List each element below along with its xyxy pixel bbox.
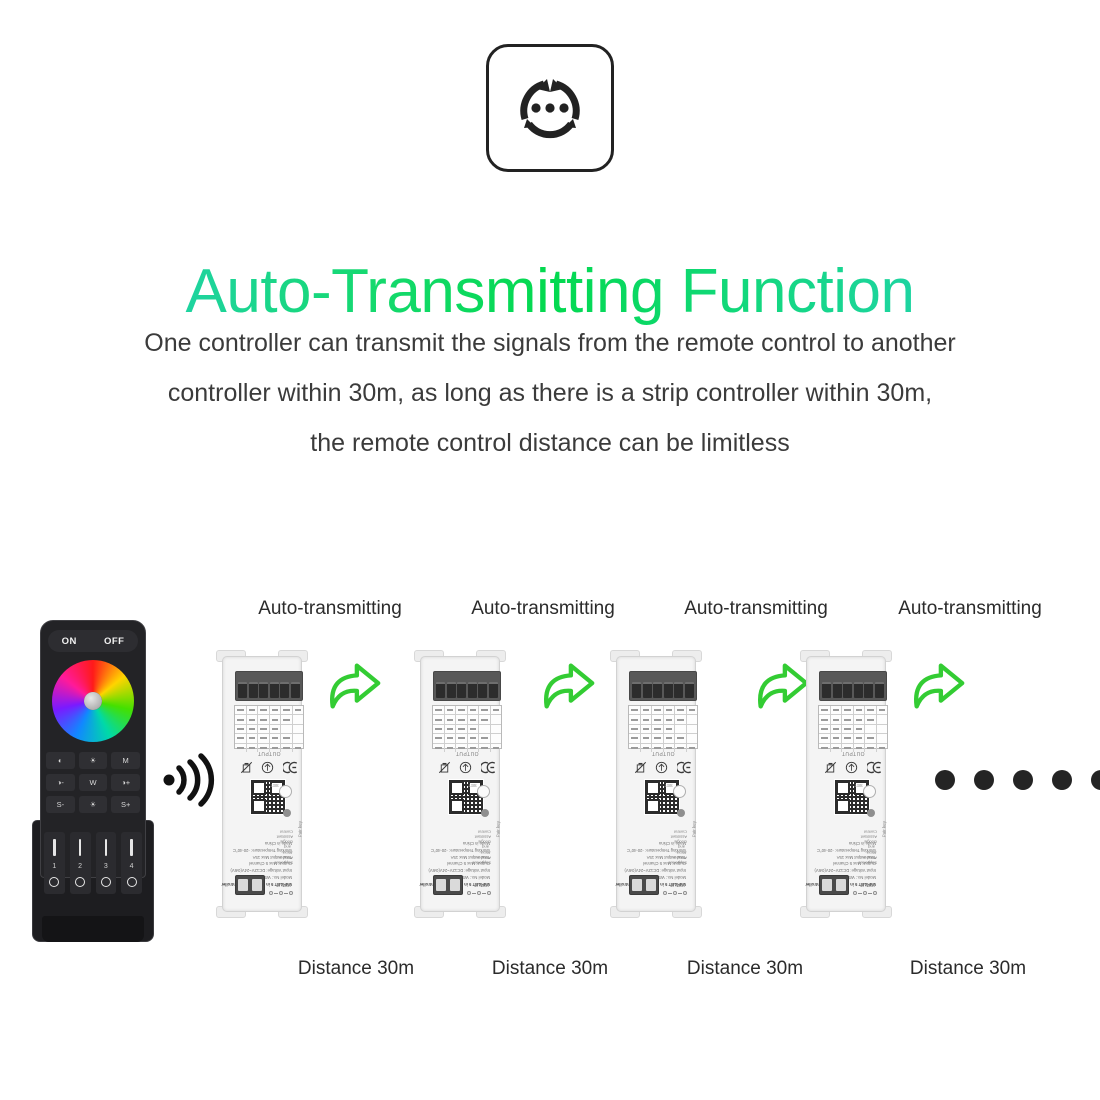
input-polarity-icon xyxy=(853,891,877,895)
controller-body: OUTPUT SET Pair key WiFi&BT 5 in xyxy=(420,656,500,912)
description-line-1: One controller can transmit the signals … xyxy=(50,318,1050,368)
input-pin-positive: + xyxy=(434,868,436,873)
weee-icon xyxy=(824,761,837,774)
output-terminal-block[interactable] xyxy=(433,671,501,701)
table-row xyxy=(629,725,697,734)
input-pin-negative: - xyxy=(657,868,658,873)
distance-label-4: Distance 30m xyxy=(900,958,1036,980)
status-led xyxy=(283,809,291,817)
description-line-2: controller within 30m, as long as there … xyxy=(50,368,1050,418)
certification-marks xyxy=(630,759,696,775)
set-button[interactable] xyxy=(673,785,686,798)
speed-up-button[interactable]: S+ xyxy=(111,796,140,813)
certification-marks xyxy=(434,759,500,775)
output-terminal-block[interactable] xyxy=(235,671,303,701)
set-button-label: SET xyxy=(270,783,279,788)
page-description: One controller can transmit the signals … xyxy=(50,318,1050,468)
table-row xyxy=(235,715,303,724)
mode-button[interactable]: M xyxy=(111,752,140,769)
output-label: OUTPUT xyxy=(818,750,888,756)
pair-key-label: Pair key xyxy=(881,821,886,837)
input-terminal-block[interactable] xyxy=(235,875,265,895)
set-button[interactable] xyxy=(477,785,490,798)
auto-transmitting-label-2: Auto-transmitting xyxy=(459,598,627,620)
status-led xyxy=(867,809,875,817)
output-label: OUTPUT xyxy=(628,750,698,756)
zone-on-icon xyxy=(53,839,56,856)
output-label: OUTPUT xyxy=(234,750,304,756)
led-strip-controller-4: OUTPUT SET Pair key WiFi&BT 5 in xyxy=(800,648,892,920)
weee-icon xyxy=(634,761,647,774)
table-row xyxy=(433,715,501,724)
zone-number: 2 xyxy=(78,863,82,870)
weee-icon xyxy=(240,761,253,774)
table-row xyxy=(433,734,501,743)
table-row xyxy=(629,715,697,724)
input-polarity-icon xyxy=(269,891,293,895)
pair-key-label: Pair key xyxy=(297,821,302,837)
controller-body: OUTPUT SET Pair key WiFi&BT 5 in xyxy=(616,656,696,912)
zone-button-1[interactable]: 1 xyxy=(44,832,65,894)
table-row xyxy=(819,715,887,724)
zone-button-4[interactable]: 4 xyxy=(121,832,142,894)
table-row xyxy=(819,734,887,743)
terminal-screw xyxy=(270,682,279,698)
distance-label-2: Distance 30m xyxy=(482,958,618,980)
led-strip-controller-2: OUTPUT SET Pair key WiFi&BT 5 in xyxy=(414,648,506,920)
zone-button-3[interactable]: 3 xyxy=(96,832,117,894)
description-line-3: the remote control distance can be limit… xyxy=(50,418,1050,468)
status-led xyxy=(481,809,489,817)
continuation-dots xyxy=(935,770,1100,790)
zone-button-2[interactable]: 2 xyxy=(70,832,91,894)
table-row xyxy=(235,725,303,734)
input-label: INPUT xyxy=(474,881,489,887)
color-wheel-center-button[interactable] xyxy=(84,692,102,710)
output-label: OUTPUT xyxy=(432,750,502,756)
table-row xyxy=(235,706,303,715)
controller-body: OUTPUT SET Pair key WiFi&BT 5 in xyxy=(806,656,886,912)
continuation-dot xyxy=(935,770,955,790)
auto-transmitting-label-1: Auto-transmitting xyxy=(246,598,414,620)
terminal-screw xyxy=(249,682,258,698)
output-terminal-block[interactable] xyxy=(629,671,697,701)
led-strip-controller-3: OUTPUT SET Pair key WiFi&BT 5 in xyxy=(610,648,702,920)
input-terminal-block[interactable] xyxy=(819,875,849,895)
zone-on-icon xyxy=(79,839,82,856)
table-row xyxy=(235,734,303,743)
remote-power-bar: ON OFF xyxy=(48,630,138,652)
zone-off-icon xyxy=(49,877,59,887)
zone-number: 1 xyxy=(52,863,56,870)
voice-assistant-note: Supported Amazon Alexa and Google Assist… xyxy=(866,829,877,865)
table-row xyxy=(819,725,887,734)
input-label: INPUT xyxy=(670,881,685,887)
recycle-icon xyxy=(261,761,274,774)
voice-assistant-note: Supported Amazon Alexa and Google Assist… xyxy=(676,829,687,865)
auto-transmitting-icon xyxy=(486,44,614,172)
certification-marks xyxy=(236,759,302,775)
terminal-screw xyxy=(291,682,300,698)
qr-code xyxy=(644,779,680,815)
brightness-down-button[interactable]: ◑- xyxy=(46,774,75,791)
auto-transmitting-label-4: Auto-transmitting xyxy=(886,598,1054,620)
continuation-dot xyxy=(1013,770,1033,790)
set-button[interactable] xyxy=(863,785,876,798)
set-button-label: SET xyxy=(664,783,673,788)
table-row xyxy=(629,734,697,743)
input-terminal-block[interactable] xyxy=(433,875,463,895)
header-icon-container xyxy=(0,44,1100,172)
input-pin-negative: - xyxy=(847,868,848,873)
input-pin-positive: + xyxy=(630,868,632,873)
speed-down-button[interactable]: S- xyxy=(46,796,75,813)
set-button[interactable] xyxy=(279,785,292,798)
input-polarity-icon xyxy=(663,891,687,895)
recycle-icon xyxy=(459,761,472,774)
ce-mark-icon xyxy=(867,761,882,774)
continuation-dot xyxy=(1052,770,1072,790)
input-screw xyxy=(252,879,262,891)
rf-signal-icon xyxy=(160,752,218,808)
input-label: INPUT xyxy=(860,881,875,887)
zone-on-icon xyxy=(105,839,108,856)
qr-code xyxy=(834,779,870,815)
remote-off-button[interactable]: OFF xyxy=(104,636,125,647)
wiring-table xyxy=(818,705,888,749)
distance-label-3: Distance 30m xyxy=(677,958,813,980)
palette-button[interactable]: ◐ xyxy=(46,752,75,769)
forward-arrow-icon-4 xyxy=(906,656,968,718)
continuation-dot xyxy=(1091,770,1100,790)
zone-off-icon xyxy=(75,877,85,887)
remote-base xyxy=(42,916,144,942)
input-pin-numbers: - + xyxy=(434,868,462,873)
output-terminal-block[interactable] xyxy=(819,671,887,701)
remote-button-grid: ◐ ☀ M ◑- W ◑+ S- ☀ S+ xyxy=(46,752,140,813)
table-row xyxy=(433,706,501,715)
weee-icon xyxy=(438,761,451,774)
wiring-table xyxy=(628,705,698,749)
effect-button[interactable]: ☀ xyxy=(79,796,108,813)
ce-mark-icon xyxy=(677,761,692,774)
qr-code xyxy=(448,779,484,815)
brightness-button[interactable]: ☀ xyxy=(79,752,108,769)
remote-zone-row: 1 2 3 4 xyxy=(44,832,142,894)
page-title: Auto-Transmitting Function xyxy=(0,258,1100,326)
auto-transmitting-label-3: Auto-transmitting xyxy=(672,598,840,620)
controller-body: OUTPUT SET Pair key WiFi&BT 5 in xyxy=(222,656,302,912)
set-button-label: SET xyxy=(854,783,863,788)
pair-key-label: Pair key xyxy=(495,821,500,837)
recycle-icon xyxy=(655,761,668,774)
continuation-dot xyxy=(974,770,994,790)
forward-arrow-icon-2 xyxy=(536,656,598,718)
zone-off-icon xyxy=(101,877,111,887)
zone-off-icon xyxy=(127,877,137,887)
wiring-table xyxy=(432,705,502,749)
certification-marks xyxy=(820,759,886,775)
led-strip-controller-1: OUTPUT SET Pair key WiFi&BT 5 in xyxy=(216,648,308,920)
set-button-label: SET xyxy=(468,783,477,788)
input-pin-negative: - xyxy=(461,868,462,873)
input-polarity-icon xyxy=(467,891,491,895)
input-screw xyxy=(238,879,248,891)
table-row xyxy=(433,725,501,734)
zone-on-icon xyxy=(130,839,133,856)
table-row xyxy=(819,706,887,715)
status-led xyxy=(677,809,685,817)
input-pin-negative: - xyxy=(263,868,264,873)
input-pin-positive: + xyxy=(236,868,238,873)
input-pin-numbers: - + xyxy=(236,868,264,873)
recycle-icon xyxy=(845,761,858,774)
input-pin-numbers: - + xyxy=(630,868,658,873)
remote-on-button[interactable]: ON xyxy=(62,636,77,647)
forward-arrow-icon-1 xyxy=(322,656,384,718)
ce-mark-icon xyxy=(283,761,298,774)
distance-label-1: Distance 30m xyxy=(288,958,424,980)
ce-mark-icon xyxy=(481,761,496,774)
voice-assistant-note: Supported Amazon Alexa and Google Assist… xyxy=(480,829,491,865)
qr-code xyxy=(250,779,286,815)
terminal-screw xyxy=(280,682,289,698)
terminal-screw xyxy=(238,682,247,698)
table-row xyxy=(629,706,697,715)
voice-assistant-note: Supported Amazon Alexa and Google Assist… xyxy=(282,829,293,865)
zone-number: 3 xyxy=(104,863,108,870)
input-terminal-block[interactable] xyxy=(629,875,659,895)
wiring-table xyxy=(234,705,304,749)
white-button[interactable]: W xyxy=(79,774,108,791)
pair-key-label: Pair key xyxy=(691,821,696,837)
zone-number: 4 xyxy=(130,863,134,870)
input-pin-numbers: - + xyxy=(820,868,848,873)
brightness-up-button[interactable]: ◑+ xyxy=(111,774,140,791)
rf-remote-control: ON OFF ◐ ☀ M ◑- W ◑+ S- ☀ S+ 1 2 3 xyxy=(32,620,154,942)
input-label: INPUT xyxy=(276,881,291,887)
terminal-screw xyxy=(259,682,268,698)
input-pin-positive: + xyxy=(820,868,822,873)
